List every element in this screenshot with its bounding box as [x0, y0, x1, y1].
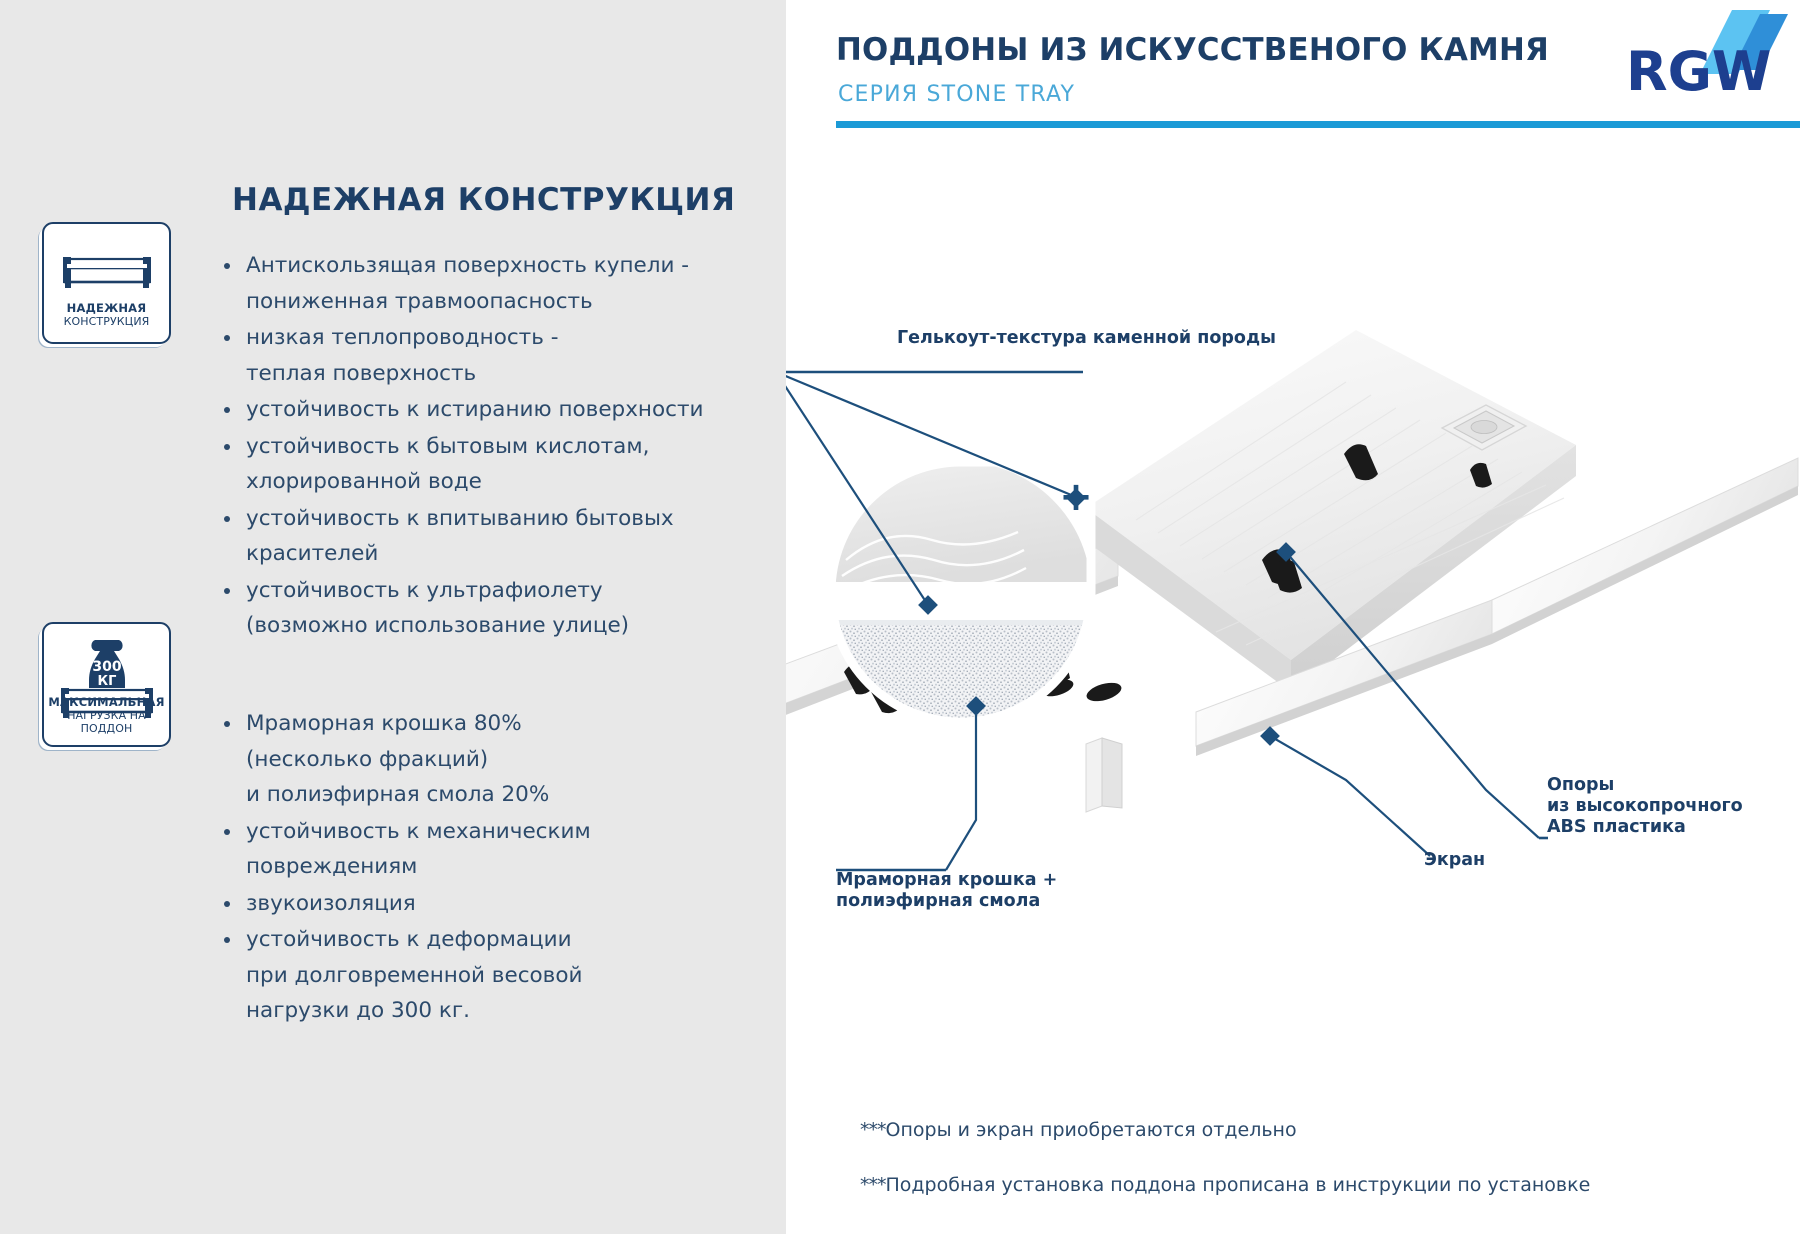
right-panel [786, 0, 1800, 1234]
logo-text: RGW [1626, 40, 1771, 103]
footnote-supports: ***Опоры и экран приобретаются отдельно [860, 1119, 1297, 1141]
feature-list-material: Мраморная крошка 80% (несколько фракций)… [222, 706, 752, 1030]
footnote-text: Подробная установка поддона прописана в … [886, 1174, 1591, 1196]
page-title: НАДЕЖНАЯ КОНСТРУКЦИЯ [232, 182, 735, 218]
header-subtitle: СЕРИЯ STONE TRAY [838, 82, 1075, 107]
label-gelcoat: Гелькоут-текстура каменной породы [897, 328, 1276, 349]
list-item: низкая теплопроводность - теплая поверхн… [222, 320, 752, 391]
badge-reliable-construction: НАДЕЖНАЯ КОНСТРУКЦИЯ [42, 222, 171, 344]
footnote-installation: ***Подробная установка поддона прописана… [860, 1174, 1590, 1196]
badge-label: МАКСИМАЛЬНАЯ НАГРУЗКА НА ПОДДОН [44, 696, 169, 735]
list-item: устойчивость к впитыванию бытовых красит… [222, 501, 752, 572]
header-divider [836, 121, 1800, 128]
list-item: устойчивость к деформации при долговреме… [222, 922, 752, 1029]
list-item: устойчивость к ультрафиолету (возможно и… [222, 573, 752, 644]
list-item: устойчивость к бытовым кислотам, хлориро… [222, 429, 752, 500]
list-item: звукоизоляция [222, 886, 752, 922]
footnote-stars: *** [860, 1119, 886, 1141]
badge-label: НАДЕЖНАЯ КОНСТРУКЦИЯ [44, 302, 169, 328]
page-root: НАДЕЖНАЯ КОНСТРУКЦИЯ НАДЕЖНАЯ КОНСТРУКЦИ… [0, 0, 1800, 1234]
footnote-text: Опоры и экран приобретаются отдельно [886, 1119, 1297, 1141]
label-screen: Экран [1424, 850, 1485, 871]
footnote-stars: *** [860, 1174, 886, 1196]
list-item: Антискользящая поверхность купели - пони… [222, 248, 752, 319]
badge-max-load: 300 КГ МАКСИМАЛЬНАЯ НАГРУЗКА НА ПОДДОН [42, 622, 171, 747]
label-marble-chips: Мраморная крошка + полиэфирная смола [836, 870, 1057, 912]
feature-list-construction: Антискользящая поверхность купели - пони… [222, 248, 752, 645]
shower-tray-icon [44, 255, 169, 293]
left-panel: НАДЕЖНАЯ КОНСТРУКЦИЯ НАДЕЖНАЯ КОНСТРУКЦИ… [0, 0, 786, 1234]
list-item: устойчивость к механическим повреждениям [222, 814, 752, 885]
list-item: устойчивость к истиранию поверхности [222, 392, 752, 428]
svg-text:КГ: КГ [97, 674, 116, 689]
rgw-logo: RGW [1620, 8, 1790, 108]
header-title: ПОДДОНЫ ИЗ ИСКУССТВЕНОГО КАМНЯ [836, 32, 1549, 68]
label-abs-supports: Опоры из высокопрочного ABS пластика [1547, 775, 1743, 838]
svg-text:300: 300 [92, 659, 121, 675]
list-item: Мраморная крошка 80% (несколько фракций)… [222, 706, 752, 813]
